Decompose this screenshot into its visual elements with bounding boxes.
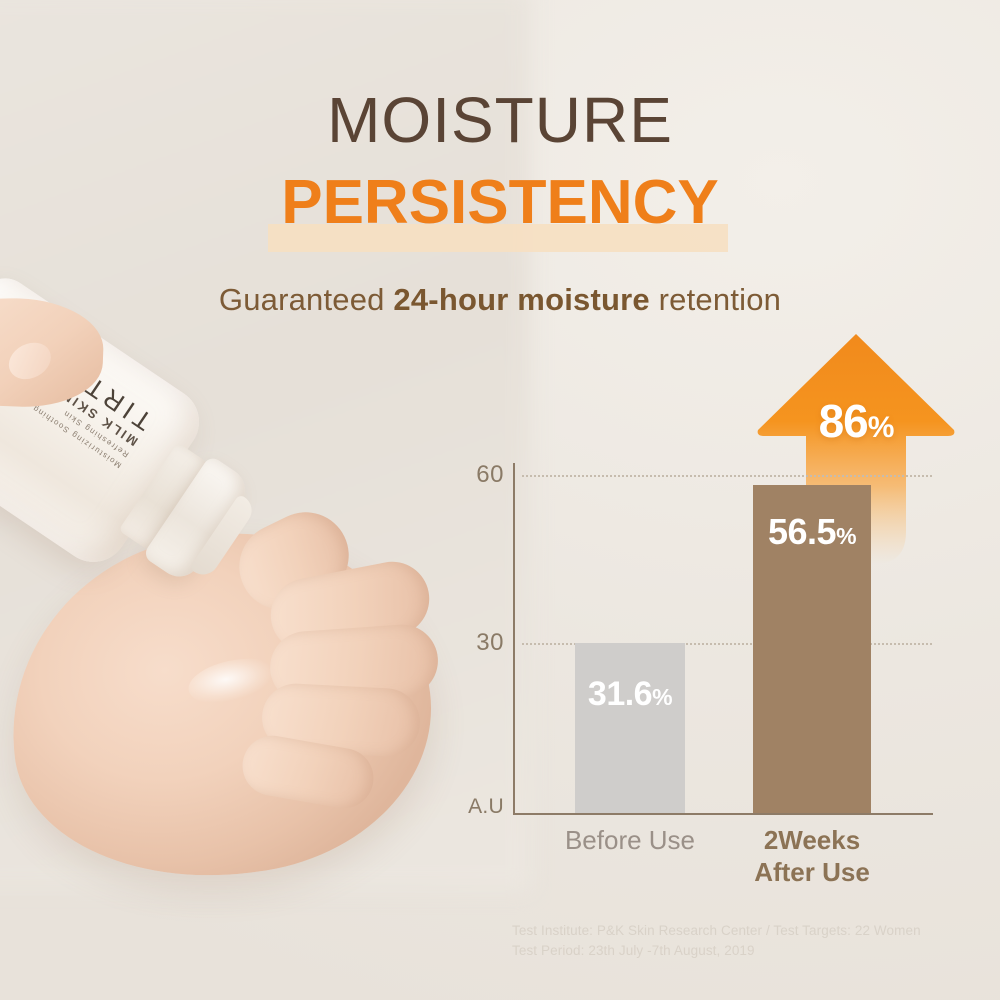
page-subtitle: Guaranteed 24-hour moisture retention [0, 282, 1000, 318]
y-axis-tick-60: 60 [458, 461, 504, 489]
bar-value-before-number: 31.6 [588, 675, 652, 713]
bar-value-before: 31.6% [575, 675, 685, 714]
bar-value-after-unit: % [836, 523, 856, 549]
y-axis-label: A.U [458, 795, 504, 819]
subtitle-lead: Guaranteed [219, 282, 394, 317]
bar-value-before-unit: % [652, 684, 672, 710]
increase-percent-sign: % [868, 411, 894, 444]
subtitle-emphasis: 24-hour moisture [393, 282, 649, 317]
bar-value-after-number: 56.5 [768, 511, 836, 552]
x-axis-category-after: 2Weeks After Use [732, 825, 892, 888]
page-title-highlight-wrap: PERSISTENCY [0, 172, 1000, 252]
x-axis-line [513, 813, 933, 815]
bar-after-use: 56.5% [753, 485, 871, 813]
fingernail [2, 336, 57, 387]
gridline-60 [522, 475, 932, 477]
footnote-line-1: Test Institute: P&K Skin Research Center… [512, 921, 982, 941]
study-footnote: Test Institute: P&K Skin Research Center… [512, 921, 982, 960]
subtitle-tail: retention [650, 282, 781, 317]
category-after-line2: After Use [732, 857, 892, 889]
y-axis-line [513, 463, 515, 815]
footnote-line-2: Test Period: 23th July -7th August, 2019 [512, 941, 982, 961]
increase-number: 86 [819, 395, 868, 447]
y-axis-tick-30: 30 [458, 629, 504, 657]
category-after-line1: 2Weeks [732, 825, 892, 857]
page-title-highlight: PERSISTENCY [281, 172, 719, 234]
moisture-bar-chart: 60 30 A.U 31.6% 56.5% Before Use 2Weeks … [460, 455, 940, 895]
product-photo: Moisturizing Soothing Refreshing Skin MI… [0, 250, 530, 870]
increase-value: 86% [756, 394, 956, 448]
bar-value-after: 56.5% [753, 511, 871, 553]
marketing-infographic: Moisturizing Soothing Refreshing Skin MI… [0, 0, 1000, 1000]
bar-before-use: 31.6% [575, 643, 685, 813]
x-axis-category-before: Before Use [555, 825, 705, 857]
page-title: MOISTURE [0, 88, 1000, 152]
category-before-line1: Before Use [555, 825, 705, 857]
